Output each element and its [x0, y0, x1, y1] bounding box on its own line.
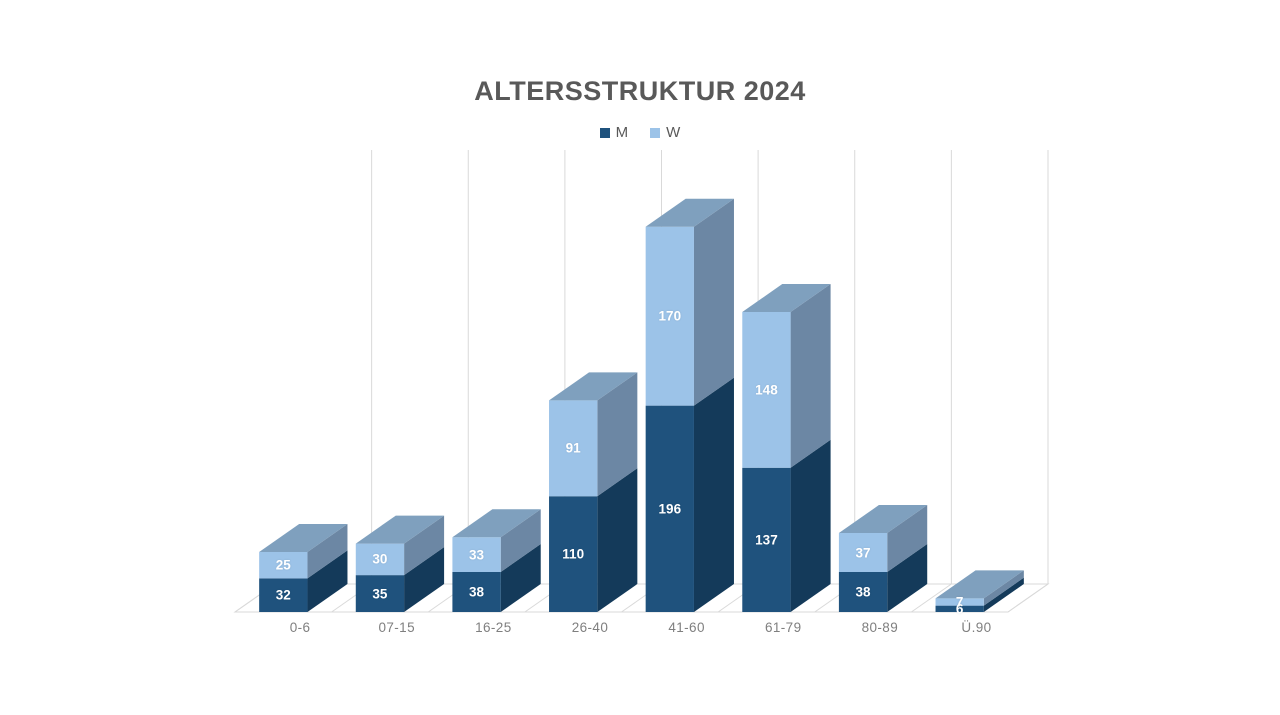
legend-item-w[interactable]: W — [650, 124, 680, 141]
legend-label-m: M — [616, 124, 629, 141]
chart-3d-scene — [0, 150, 1280, 650]
category-label-61-79: 61-79 — [765, 620, 802, 635]
legend-label-w: W — [666, 124, 680, 141]
data-label-61-79-m: 137 — [755, 532, 778, 547]
data-label-26-40-m: 110 — [562, 547, 584, 562]
data-label-0-6-m: 32 — [276, 588, 291, 603]
data-label-16-25-w: 33 — [469, 547, 484, 562]
category-label-26-40: 26-40 — [572, 620, 609, 635]
data-label-0-6-w: 25 — [276, 558, 291, 573]
legend-item-m[interactable]: M — [600, 124, 629, 141]
category-label-07-15: 07-15 — [378, 620, 415, 635]
category-label-41-60: 41-60 — [668, 620, 705, 635]
data-label-41-60-w: 170 — [659, 309, 682, 324]
data-label-26-40-w: 91 — [566, 441, 581, 456]
legend-swatch-m-icon — [600, 128, 610, 138]
plot-area: 32253530383311091196170137148383767 — [0, 150, 1280, 650]
data-label-ü.90-w: 7 — [956, 595, 964, 610]
category-label-0-6: 0-6 — [290, 620, 311, 635]
category-label-16-25: 16-25 — [475, 620, 512, 635]
data-label-07-15-w: 30 — [372, 552, 387, 567]
category-axis: 0-607-1516-2526-4041-6061-7980-89Ü.90 — [0, 620, 1280, 646]
chart-container: ALTERSSTRUKTUR 2024 M W 3225353038331109… — [0, 0, 1280, 715]
category-label-80-89: 80-89 — [862, 620, 899, 635]
data-label-80-89-w: 37 — [856, 545, 871, 560]
data-label-07-15-m: 35 — [372, 586, 387, 601]
chart-legend: M W — [0, 124, 1280, 141]
data-label-80-89-m: 38 — [856, 585, 871, 600]
data-label-61-79-w: 148 — [755, 382, 778, 397]
chart-title: ALTERSSTRUKTUR 2024 — [0, 76, 1280, 107]
data-label-16-25-m: 38 — [469, 585, 484, 600]
category-label-ü.90: Ü.90 — [961, 620, 991, 635]
legend-swatch-w-icon — [650, 128, 660, 138]
data-label-41-60-m: 196 — [659, 501, 682, 516]
